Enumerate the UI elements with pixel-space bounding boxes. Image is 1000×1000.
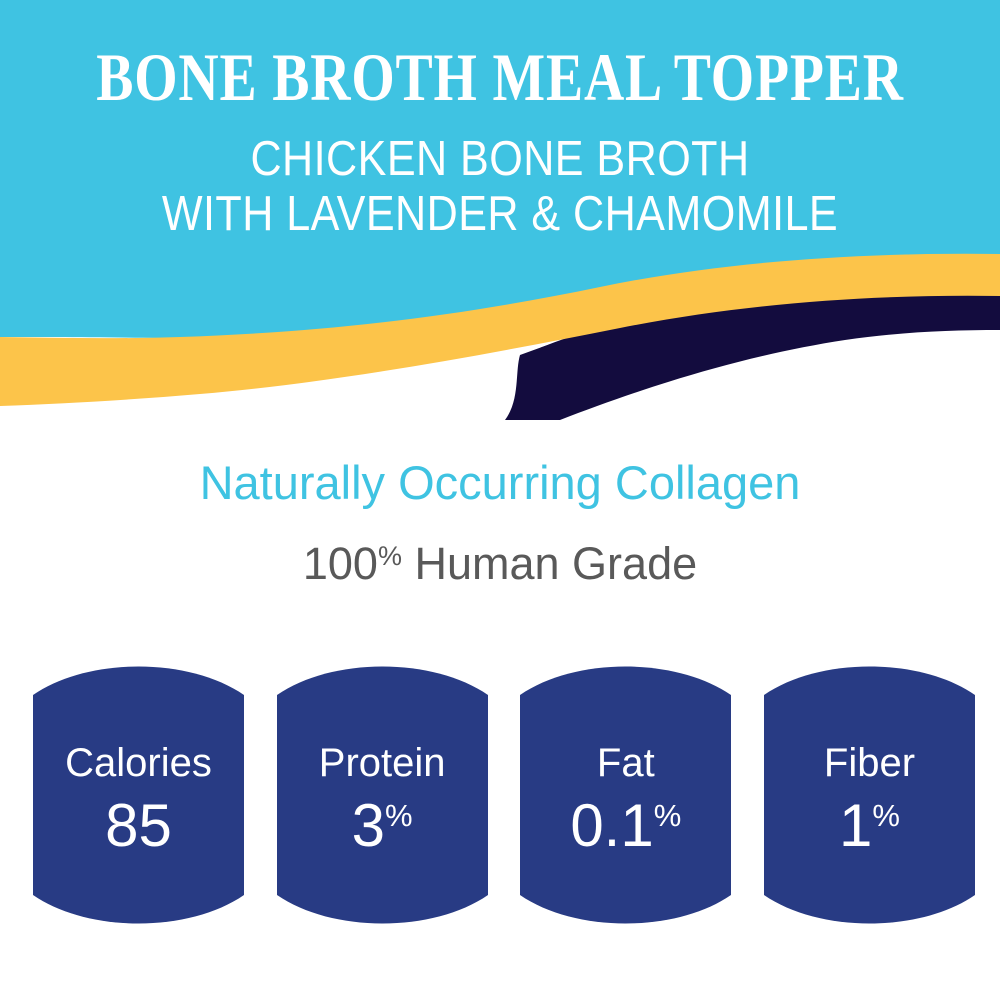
product-label-panel: BONE BROTH MEAL TOPPER CHICKEN BONE BROT… — [0, 0, 1000, 1000]
badge-value-unit: % — [654, 798, 682, 833]
badge-value-unit: % — [385, 798, 413, 833]
badge-value: 3% — [352, 784, 413, 858]
badge-value-number: 0.1 — [570, 792, 653, 859]
nutrition-badge-calories: Calories 85 — [33, 655, 244, 935]
claim-collagen: Naturally Occurring Collagen — [0, 455, 1000, 511]
claim-human-grade-text: Human Grade — [402, 538, 697, 589]
nutrition-badge-protein: Protein 3% — [277, 655, 488, 935]
badge-value-number: 1 — [839, 792, 872, 859]
claims-block: Naturally Occurring Collagen 100% Human … — [0, 455, 1000, 591]
badge-label: Calories — [65, 740, 212, 786]
header-band: BONE BROTH MEAL TOPPER CHICKEN BONE BROT… — [0, 0, 1000, 420]
percent-symbol: % — [378, 541, 402, 571]
badge-value-number: 85 — [105, 792, 172, 859]
badge-content: Protein 3% — [277, 655, 488, 935]
claim-human-grade-number: 100 — [303, 538, 378, 589]
nutrition-badge-row: Calories 85 Protein 3% Fat — [33, 655, 975, 935]
badge-content: Fat 0.1% — [520, 655, 731, 935]
badge-value: 85 — [105, 784, 172, 858]
badge-content: Fiber 1% — [764, 655, 975, 935]
badge-label: Fiber — [824, 740, 915, 786]
badge-value-number: 3 — [352, 792, 385, 859]
badge-value: 1% — [839, 784, 900, 858]
badge-label: Fat — [597, 740, 655, 786]
wave-divider-graphic — [0, 0, 1000, 420]
nutrition-badge-fat: Fat 0.1% — [520, 655, 731, 935]
badge-value-unit: % — [872, 798, 900, 833]
badge-label: Protein — [319, 740, 446, 786]
badge-value: 0.1% — [570, 784, 681, 858]
badge-content: Calories 85 — [33, 655, 244, 935]
nutrition-badge-fiber: Fiber 1% — [764, 655, 975, 935]
claim-human-grade: 100% Human Grade — [0, 511, 1000, 591]
